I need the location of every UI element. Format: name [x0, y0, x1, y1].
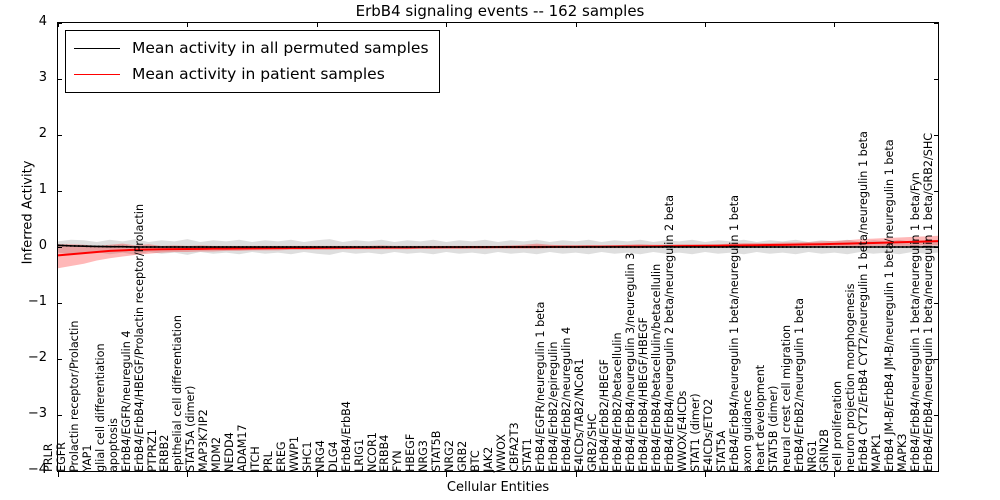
y-tick-label: 3 [2, 70, 47, 85]
x-tick-label: ErbB4/ErbB4/neuregulin 2 beta/neuregulin… [664, 195, 675, 472]
x-tick-label: neural crest cell migration [781, 325, 792, 472]
x-tick-label: LRIG1 [354, 439, 365, 472]
x-tick-mark [705, 472, 706, 477]
x-tick-label: NRG2 [444, 440, 455, 472]
x-tick-mark-top [446, 22, 447, 27]
x-tick-label: EREG [276, 441, 287, 472]
x-tick-label: STAT1 [522, 438, 533, 472]
legend-line-icon-patient [74, 74, 120, 75]
x-tick-label: ITCH [250, 446, 261, 472]
legend-item: Mean activity in all permuted samples [74, 35, 429, 61]
y-tick-label: 4 [2, 14, 47, 29]
y-tick-label: −2 [2, 350, 47, 365]
x-tick-label: ErbB4/ErbB2/betacellulin [612, 332, 623, 472]
x-tick-label: ErbB4/ErbB4/neuregulin 1 beta/neuregulin… [923, 133, 934, 472]
x-tick-label: ErbB4/ErbB4/neuregulin 3/neuregulin 3 [625, 253, 636, 472]
x-tick-label: FYN [392, 450, 403, 472]
y-tick-label: −4 [2, 462, 47, 477]
x-tick-label: MAP3K7IP2 [198, 409, 209, 472]
x-tick-label: ErbB4/ErbB2/neuregulin 4 [561, 327, 572, 472]
x-tick-label: PTPRZ1 [147, 429, 158, 472]
x-tick-label: STAT1 (dimer) [690, 393, 701, 472]
legend-label: Mean activity in patient samples [132, 65, 385, 83]
x-tick-mark-top [576, 22, 577, 27]
y-tick-mark [57, 303, 62, 304]
x-tick-label: ADAM17 [237, 424, 248, 472]
x-tick-label: ErbB4/ErbB4/HBEGF/HBEGF [638, 317, 649, 472]
x-tick-label: ErbB4/ErbB2/HBEGF [599, 359, 610, 472]
x-tick-label: axon guidance [742, 390, 753, 472]
x-tick-label: E4ICDs/TAB2/NCoR1 [574, 358, 585, 472]
x-tick-mark [576, 472, 577, 477]
legend-line-icon-permuted [74, 48, 120, 49]
x-tick-label: PRL [263, 451, 274, 472]
x-tick-label: GRB2/SHC [587, 414, 598, 472]
y-tick-label: 1 [2, 182, 47, 197]
x-tick-label: heart development [755, 365, 766, 472]
x-tick-label: Prolactin receptor/Prolactin [69, 321, 80, 472]
x-tick-label: epithelial cell differentiation [172, 315, 183, 472]
x-tick-label: cell proliferation [832, 381, 843, 472]
x-tick-label: ErbB4/ErbB4/betacellulin/betacellulin [651, 264, 662, 472]
page-title: ErbB4 signaling events -- 162 samples [0, 2, 1000, 20]
x-tick-label: ErbB4/ErbB4/HBEGF/Prolactin receptor/Pro… [134, 204, 145, 472]
x-tick-label: ERBB2 [159, 435, 170, 472]
x-tick-label: PRLR [43, 443, 54, 472]
x-tick-label: GRIN2B [819, 429, 830, 472]
y-tick-mark [57, 359, 62, 360]
y-tick-mark-right [934, 79, 939, 80]
x-tick-label: STAT5B (dimer) [768, 386, 779, 472]
x-tick-label: NCOR1 [367, 432, 378, 472]
x-tick-label: ERBB4 [379, 435, 390, 472]
x-tick-label: E4ICDs/ETO2 [703, 399, 714, 472]
x-tick-label: ErbB4/ErbB2/epiregulin [548, 342, 559, 473]
y-tick-mark [57, 79, 62, 80]
y-tick-label: 0 [2, 238, 47, 253]
x-tick-label: MAPK3 [897, 433, 908, 472]
x-tick-label: apoptosis [108, 418, 119, 472]
x-tick-label: HBEGF [405, 434, 416, 472]
y-tick-mark [57, 191, 62, 192]
x-tick-mark-top [834, 22, 835, 27]
chart-root: ErbB4 signaling events -- 162 samples In… [0, 0, 1000, 500]
x-tick-label: MAPK1 [871, 433, 882, 472]
y-tick-label: 2 [2, 126, 47, 141]
x-tick-label: NRG4 [315, 440, 326, 472]
x-tick-label: neuron projection morphogenesis [845, 284, 856, 472]
x-tick-label: ErbB4/EGFR/neuregulin 4 [121, 330, 132, 472]
x-tick-label: ErbB4/ErbB4/neuregulin 1 beta/neuregulin… [729, 195, 740, 472]
x-tick-label: EGFR [56, 442, 67, 472]
x-axis-label: Cellular Entities [57, 480, 939, 495]
x-tick-label: WWP1 [289, 436, 300, 472]
x-tick-label: WWOX [496, 434, 507, 472]
x-tick-mark [187, 472, 188, 477]
x-tick-label: NEDD4 [224, 432, 235, 472]
y-tick-mark [57, 135, 62, 136]
x-tick-mark [446, 472, 447, 477]
x-tick-label: ErbB4 JM-B/ErbB4 JM-B/neuregulin 1 beta/… [884, 139, 895, 472]
x-tick-label: STAT5A [716, 431, 727, 472]
y-tick-mark [57, 415, 62, 416]
x-tick-label: SHC1 [302, 442, 313, 472]
x-tick-label: NRG1 [807, 440, 818, 472]
x-tick-label: ErbB4/ErbB4/neuregulin 1 beta/neuregulin… [910, 172, 921, 472]
legend-label: Mean activity in all permuted samples [132, 39, 429, 57]
y-tick-label: −3 [2, 406, 47, 421]
x-tick-mark-top [187, 22, 188, 27]
x-tick-label: ErbB4/EGFR/neuregulin 1 beta [535, 302, 546, 472]
x-tick-label: BTC [470, 450, 481, 472]
x-tick-label: CBFA2T3 [509, 422, 520, 472]
y-tick-label: −1 [2, 294, 47, 309]
x-tick-mark-top [705, 22, 706, 27]
x-tick-label: STAT5B [431, 431, 442, 472]
x-tick-label: WWOX/E4ICDs [677, 391, 688, 472]
x-tick-label: DLG4 [328, 441, 339, 472]
legend: Mean activity in all permuted samples Me… [65, 30, 440, 93]
legend-item: Mean activity in patient samples [74, 61, 429, 87]
x-tick-mark-top [58, 22, 59, 27]
x-tick-mark [317, 472, 318, 477]
x-tick-mark-top [317, 22, 318, 27]
x-tick-label: STAT5A (dimer) [185, 386, 196, 472]
x-tick-label: NRG3 [418, 440, 429, 472]
x-tick-label: glial cell differentiation [95, 343, 106, 472]
x-tick-label: ErbB4/ErbB2/neuregulin 1 beta [794, 298, 805, 472]
x-tick-label: GRB2 [457, 441, 468, 472]
x-tick-label: YAP1 [82, 445, 93, 472]
x-tick-label: MDM2 [211, 437, 222, 472]
x-tick-mark [58, 472, 59, 477]
x-tick-label: ErbB4/ErbB4 [341, 401, 352, 472]
y-tick-mark [57, 247, 62, 248]
x-tick-label: ErbB4 CYT2/ErbB4 CYT2/neuregulin 1 beta/… [858, 131, 869, 472]
x-tick-label: JAK2 [483, 447, 494, 472]
x-tick-mark [834, 472, 835, 477]
y-tick-mark-right [934, 23, 939, 24]
